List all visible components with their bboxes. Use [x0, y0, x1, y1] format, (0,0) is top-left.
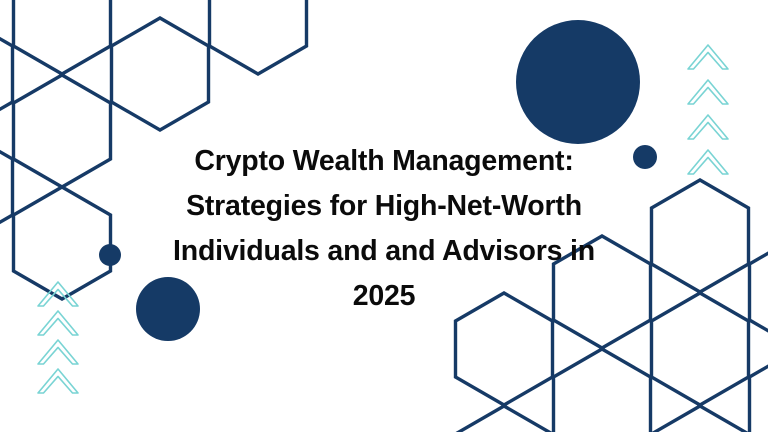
chevron-up-icon	[38, 340, 78, 364]
hexagon-outline-icon	[14, 75, 111, 187]
hexagon-outline-icon	[14, 0, 111, 74]
bullet-navy-dot	[99, 244, 121, 266]
hexagon-outline-icon	[112, 18, 209, 130]
chevron-up-icon	[688, 80, 728, 104]
hexagon-outline-icon	[14, 187, 111, 299]
hexagon-outline-icon	[554, 349, 651, 432]
hexagon-outline-icon	[456, 406, 553, 432]
hexagon-outline-icon	[0, 131, 13, 243]
hexagon-outline-icon	[652, 293, 749, 405]
hexagon-outline-icon	[210, 0, 307, 74]
top-right-chevrons	[688, 45, 728, 174]
hexagon-outline-icon	[0, 18, 13, 130]
page-title: Crypto Wealth Management: Strategies for…	[134, 139, 634, 319]
chevron-up-icon	[688, 115, 728, 139]
hexagon-outline-icon	[750, 349, 768, 432]
hexagon-outline-icon	[652, 406, 749, 432]
chevron-up-icon	[38, 369, 78, 393]
hexagon-outline-icon	[652, 180, 749, 292]
chevron-up-icon	[688, 150, 728, 174]
large-navy-circle	[516, 20, 640, 144]
banner-title-block: Crypto Wealth Management: Strategies for…	[134, 139, 634, 319]
chevron-up-icon	[38, 282, 78, 306]
banner-canvas: Crypto Wealth Management: Strategies for…	[0, 0, 768, 432]
chevron-up-icon	[38, 311, 78, 335]
bottom-left-chevrons	[38, 282, 78, 393]
small-navy-dot	[633, 145, 657, 169]
chevron-up-icon	[688, 45, 728, 69]
hexagon-outline-icon	[750, 236, 768, 348]
